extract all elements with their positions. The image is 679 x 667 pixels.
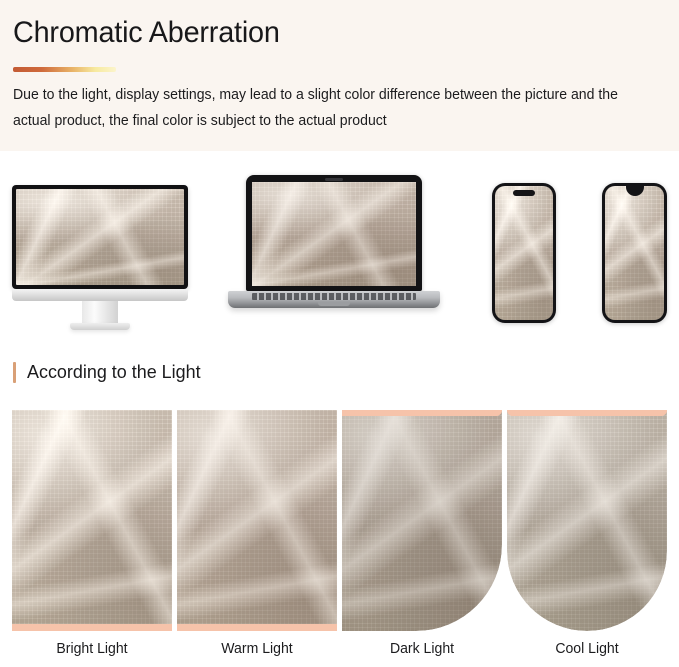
laptop-trackpad-notch bbox=[318, 302, 350, 306]
title-accent-bar bbox=[13, 67, 116, 72]
header-banner: Chromatic Aberration Due to the light, d… bbox=[0, 0, 679, 151]
swatch-image bbox=[507, 410, 667, 631]
fabric-texture bbox=[12, 410, 172, 631]
swatch-underline bbox=[177, 624, 337, 631]
swatch-image bbox=[177, 410, 337, 631]
light-swatch-row: Bright Light Warm Light Dark Light bbox=[0, 410, 679, 667]
fabric-texture bbox=[342, 410, 502, 631]
desktop-monitor bbox=[12, 185, 188, 289]
according-to-light-section: According to the Light Bright Light Warm… bbox=[0, 341, 679, 667]
laptop-keyboard bbox=[252, 293, 416, 300]
light-swatch-item: Warm Light bbox=[177, 410, 337, 631]
laptop-base bbox=[228, 291, 440, 308]
phone-dynamic-island bbox=[492, 183, 556, 323]
swatch-label: Cool Light bbox=[509, 641, 664, 657]
swatch-label: Dark Light bbox=[344, 641, 499, 657]
section-title: According to the Light bbox=[27, 361, 201, 383]
fabric-texture bbox=[177, 410, 337, 631]
swatch-image bbox=[342, 410, 502, 631]
swatch-label: Bright Light bbox=[14, 641, 169, 657]
device-mockups bbox=[0, 151, 679, 341]
swatch-label: Warm Light bbox=[179, 641, 334, 657]
dynamic-island-icon bbox=[513, 190, 535, 196]
teardrop-notch-icon bbox=[626, 186, 644, 196]
monitor-stand-neck bbox=[82, 301, 118, 323]
light-swatch-item: Dark Light bbox=[342, 410, 502, 631]
phone-b-screen-fabric-image bbox=[605, 186, 664, 320]
laptop-lid bbox=[246, 175, 422, 291]
light-swatch-item: Cool Light bbox=[507, 410, 667, 631]
header-description: Due to the light, display settings, may … bbox=[13, 82, 624, 134]
phone-a-screen-fabric-image bbox=[495, 186, 553, 320]
monitor-bezel bbox=[12, 185, 188, 289]
laptop-camera-icon bbox=[325, 178, 343, 181]
page-title: Chromatic Aberration bbox=[13, 13, 280, 53]
swatch-image bbox=[12, 410, 172, 631]
chromatic-aberration-page: Chromatic Aberration Due to the light, d… bbox=[0, 0, 679, 667]
section-accent-bar-icon bbox=[13, 362, 16, 383]
phone-teardrop-notch bbox=[602, 183, 667, 323]
swatch-underline bbox=[342, 410, 502, 416]
fabric-texture bbox=[507, 410, 667, 631]
section-heading: According to the Light bbox=[13, 360, 206, 384]
monitor-screen-fabric-image bbox=[16, 189, 184, 285]
monitor-chin bbox=[12, 289, 188, 301]
laptop-screen-fabric-image bbox=[252, 182, 416, 286]
laptop bbox=[228, 175, 440, 325]
monitor-stand-foot bbox=[70, 323, 130, 330]
swatch-underline bbox=[12, 624, 172, 631]
swatch-underline bbox=[507, 410, 667, 416]
light-swatch-item: Bright Light bbox=[12, 410, 172, 631]
